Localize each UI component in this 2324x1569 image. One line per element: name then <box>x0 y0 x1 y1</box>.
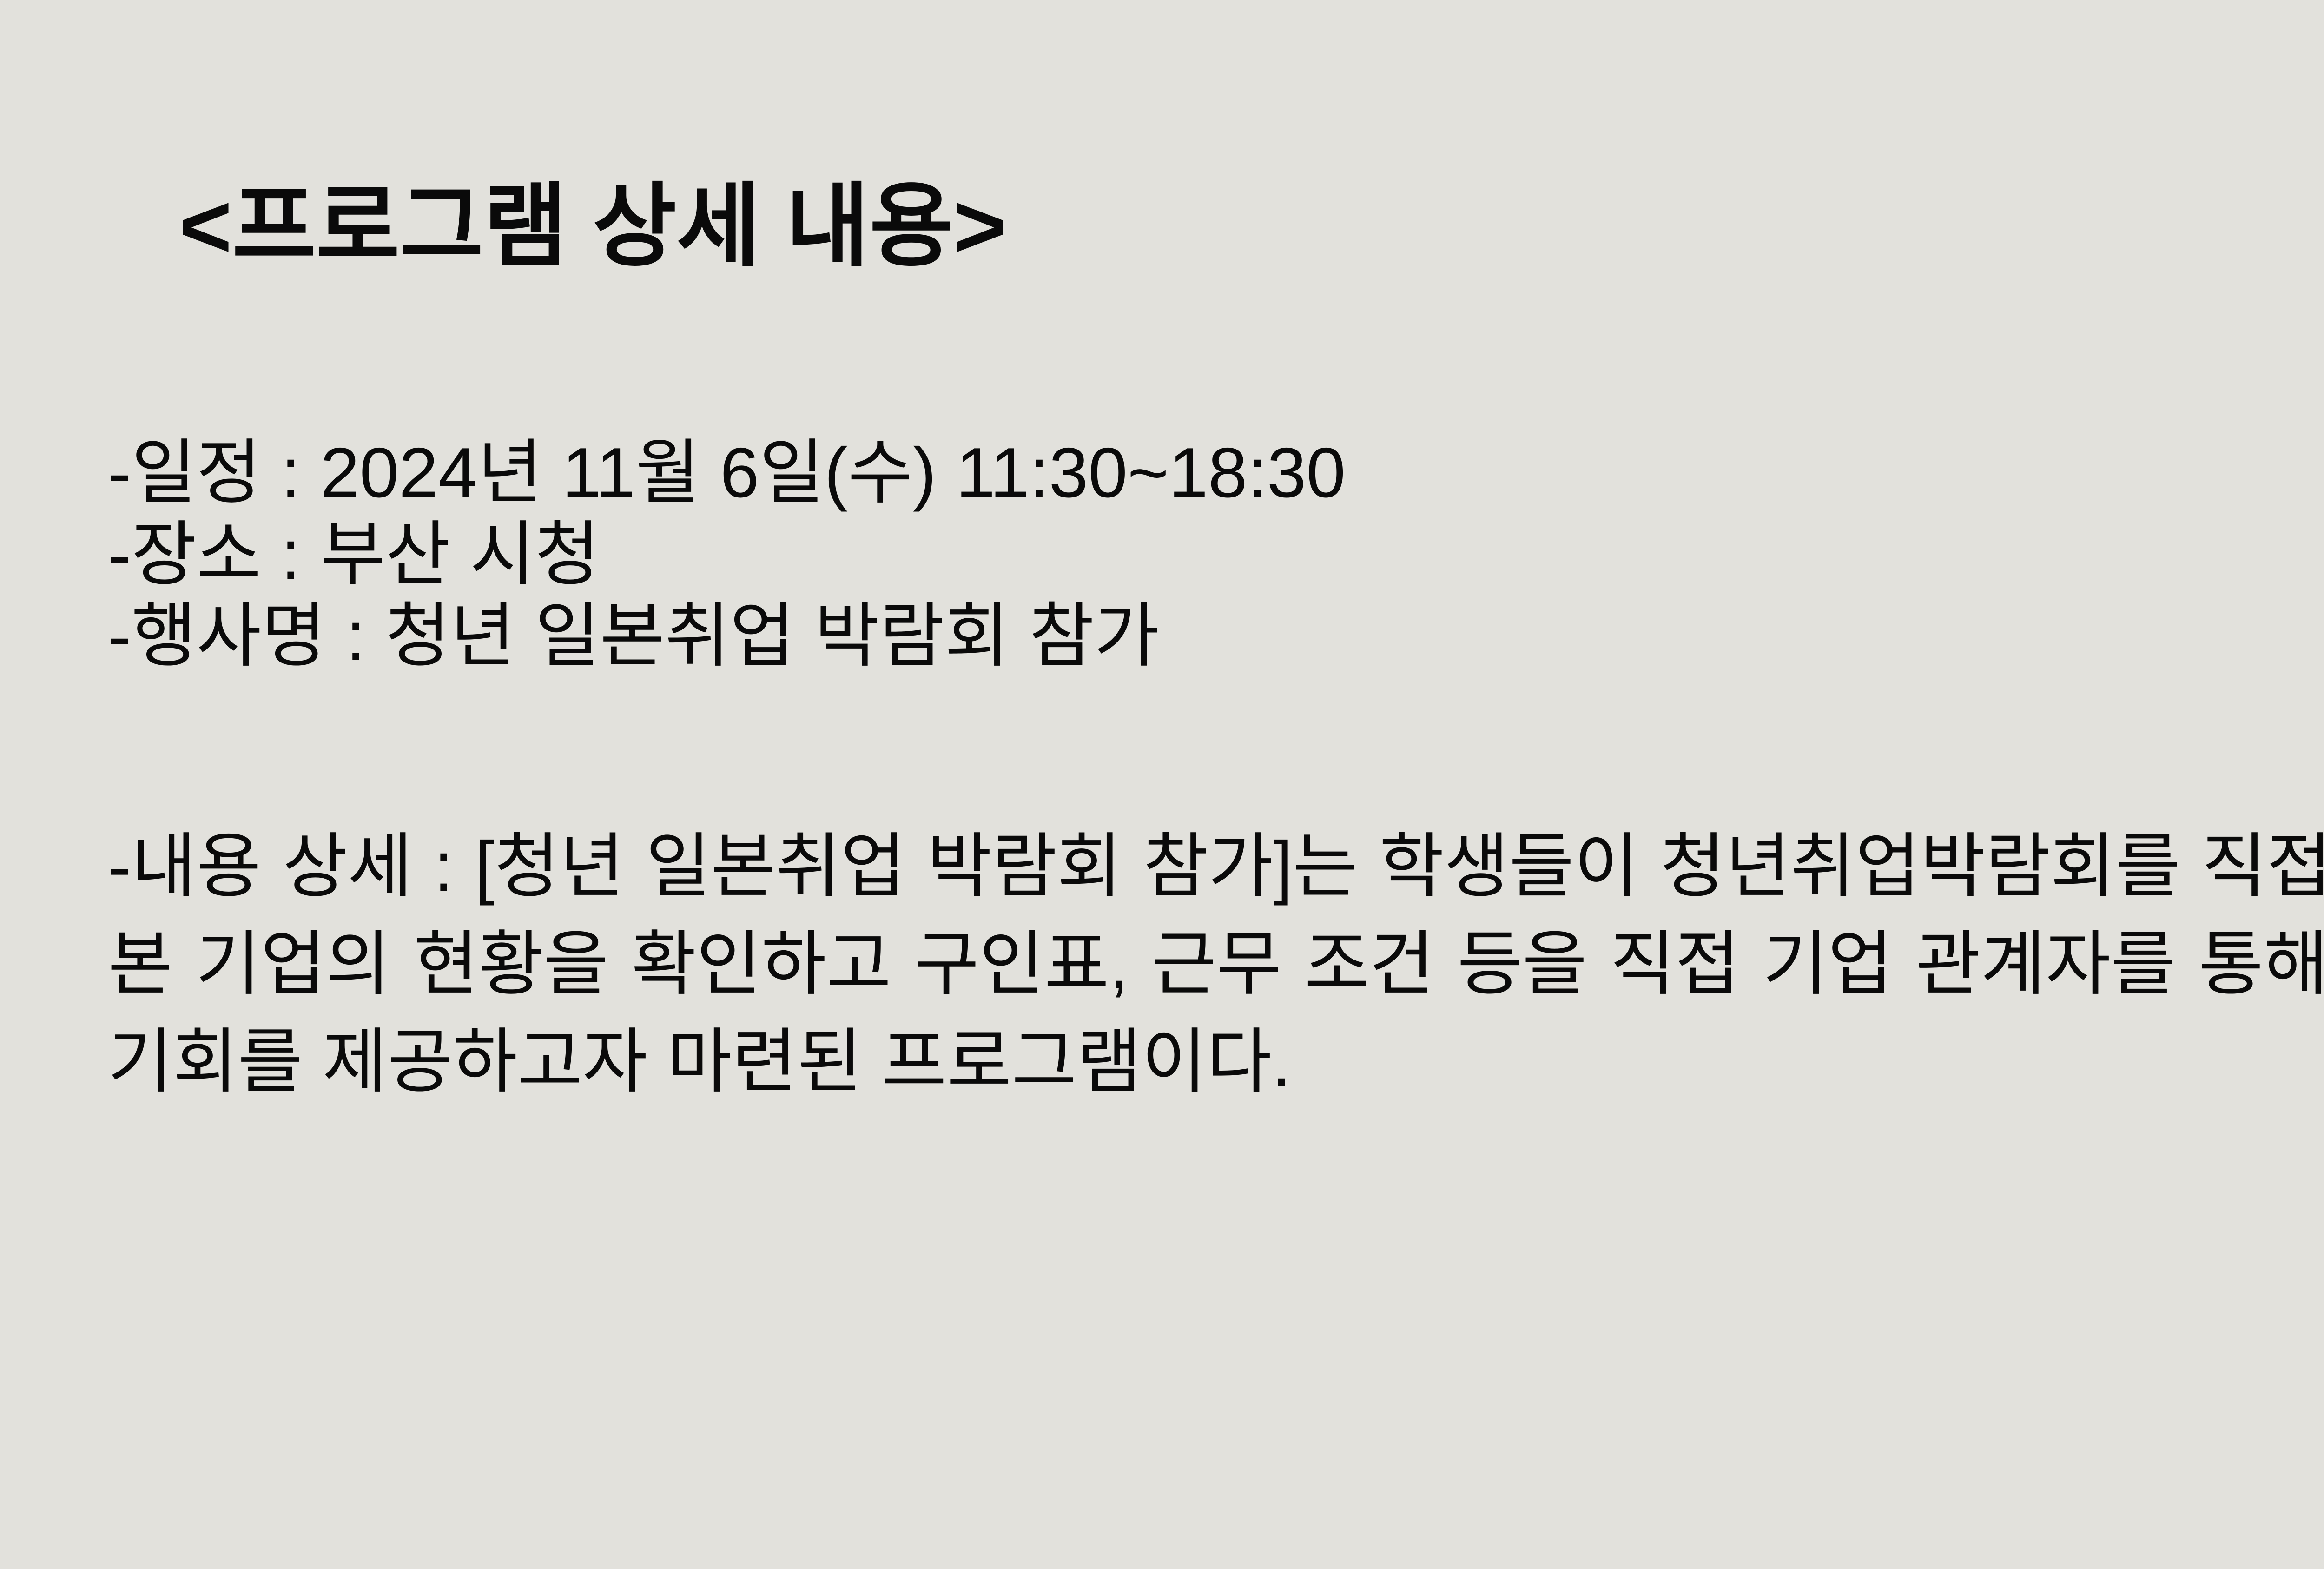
program-description-paragraph: -내용 상세 : [청년 일본취업 박람회 참가]는 학생들이 청년취업박람회를… <box>108 818 2324 1111</box>
info-line-event-name: -행사명 : 청년 일본취업 박람회 참가 <box>108 596 2324 677</box>
slide-canvas: <프로그램 상세 내용> -일정 : 2024년 11월 6일(수) 11:30… <box>0 0 2324 1569</box>
info-line-schedule: -일정 : 2024년 11월 6일(수) 11:30~18:30 <box>108 432 2324 514</box>
program-description-block: -내용 상세 : [청년 일본취업 박람회 참가]는 학생들이 청년취업박람회를… <box>108 818 2324 1111</box>
page-title: <프로그램 상세 내용> <box>179 172 1006 280</box>
program-info-list: -일정 : 2024년 11월 6일(수) 11:30~18:30 -장소 : … <box>108 432 2324 677</box>
info-line-venue: -장소 : 부산 시청 <box>108 514 2324 596</box>
